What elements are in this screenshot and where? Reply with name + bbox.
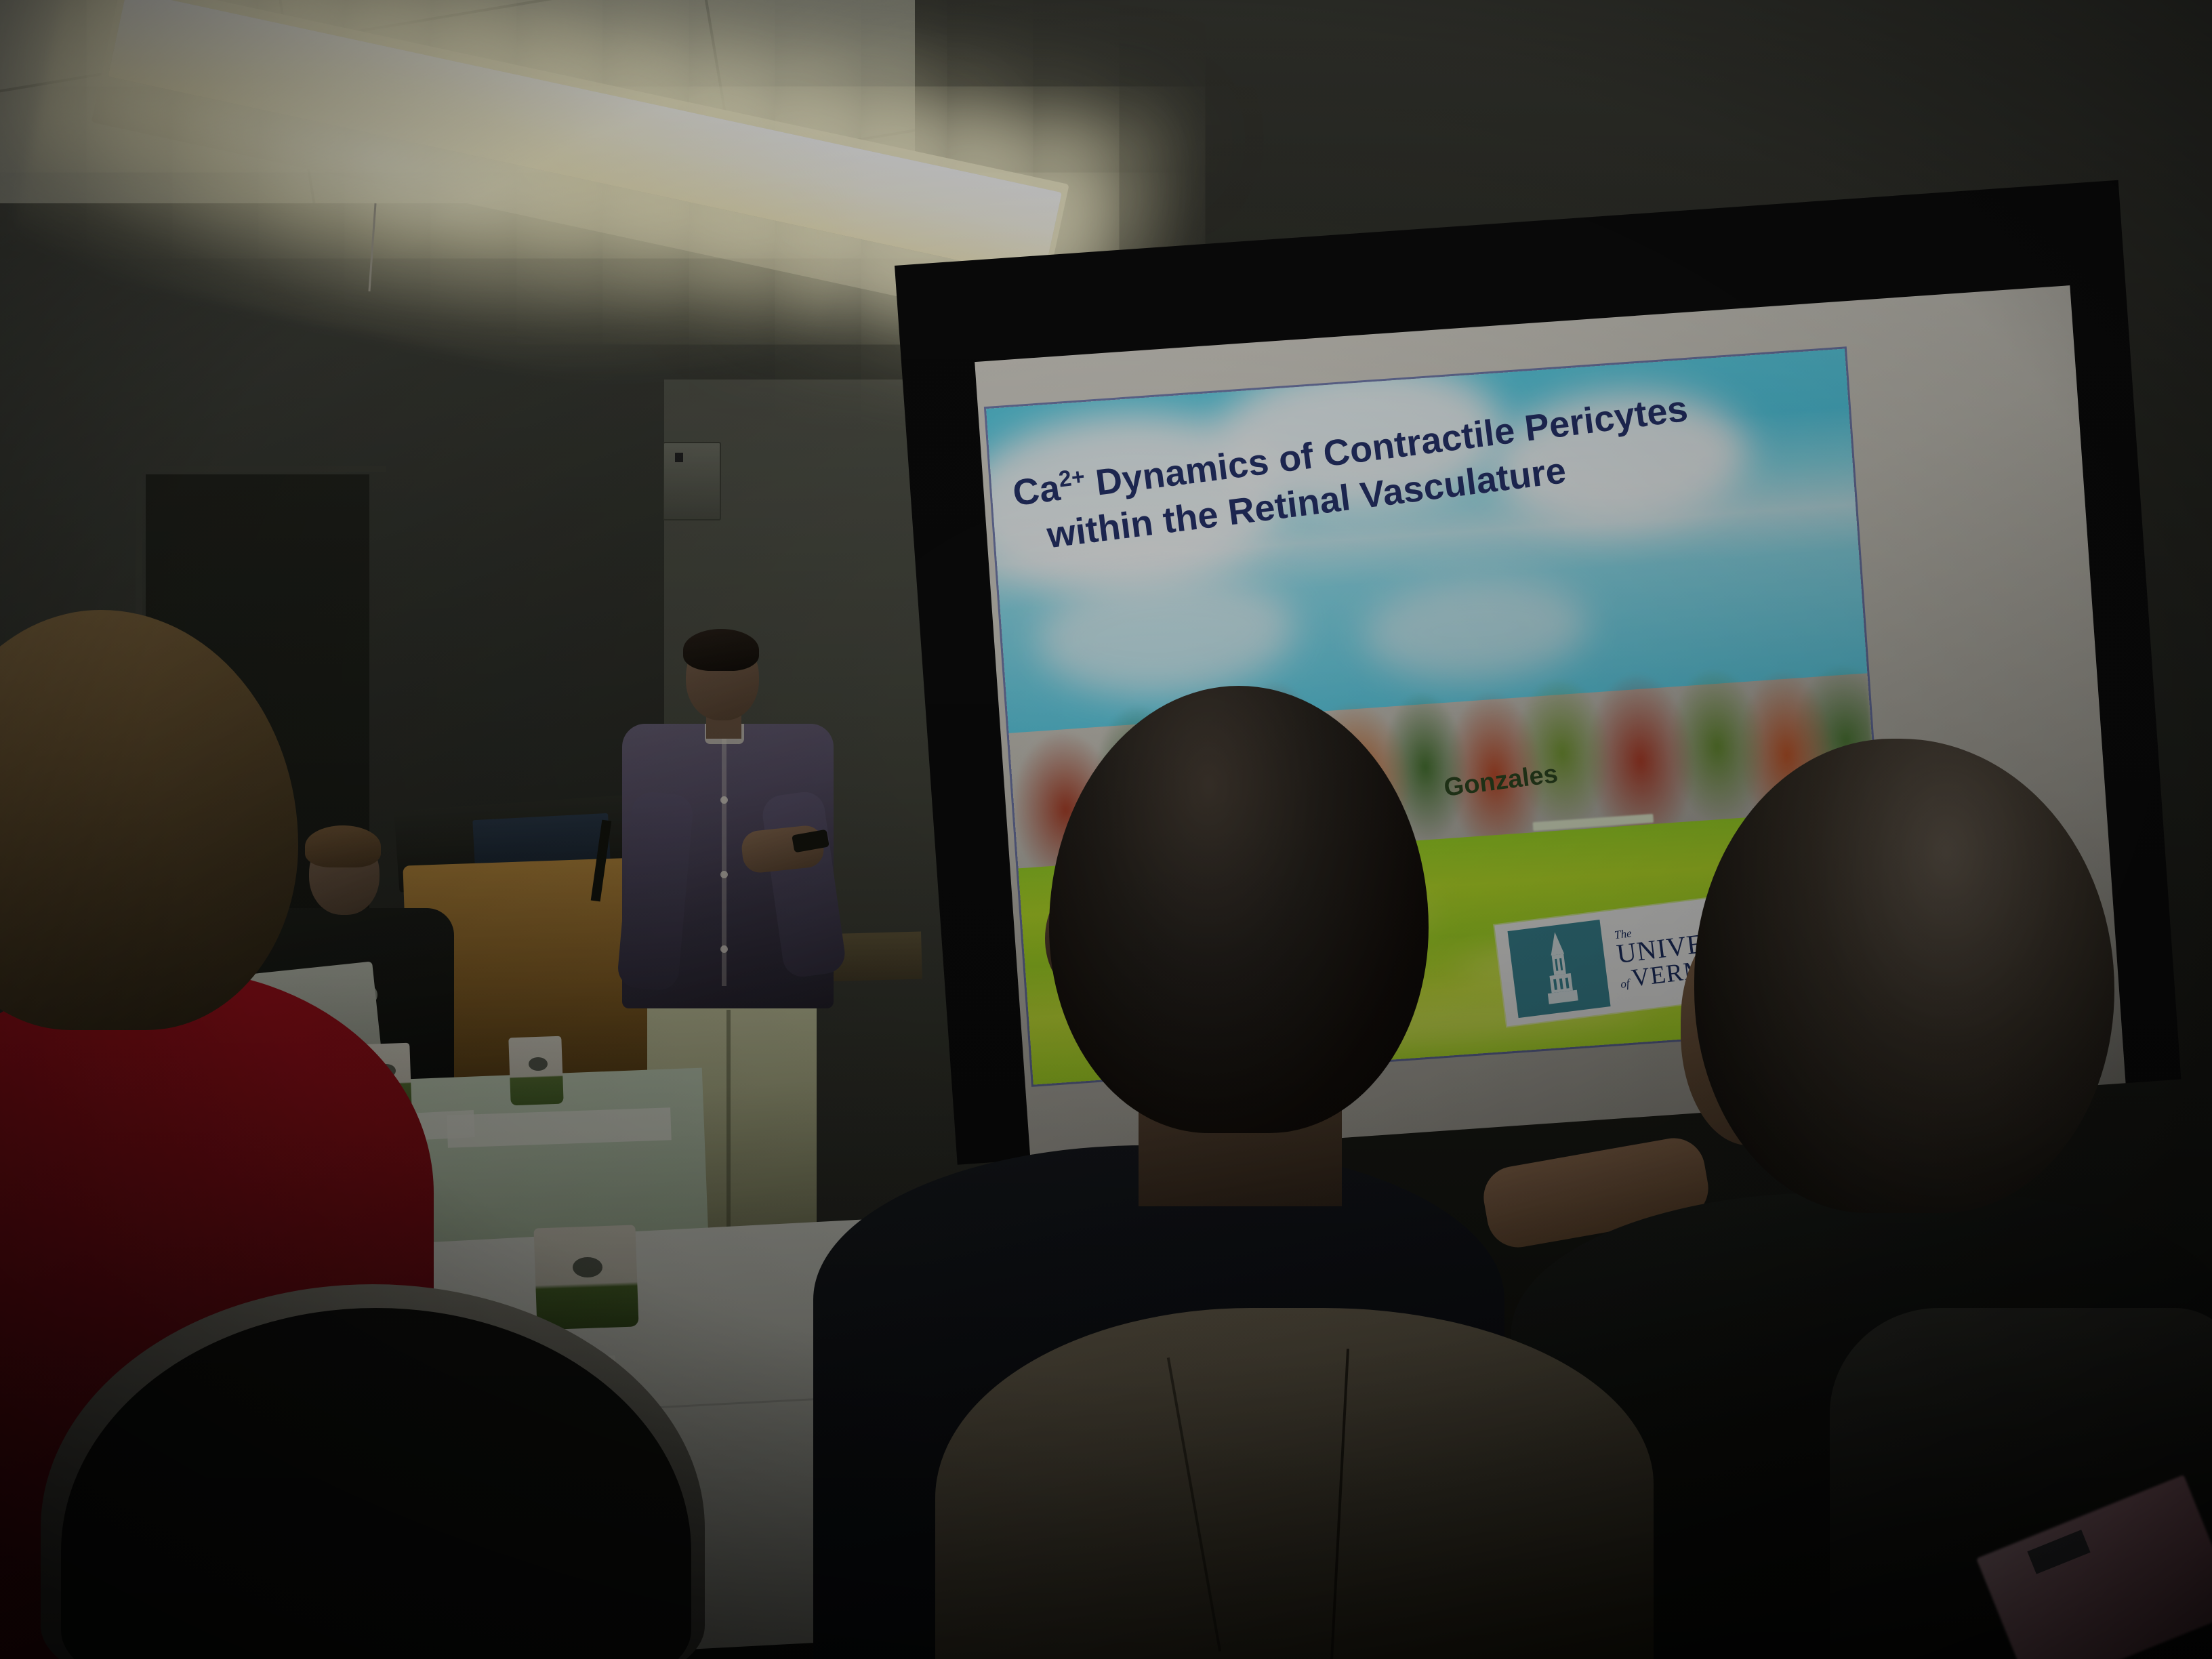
coffee-cup bbox=[508, 1036, 563, 1106]
beige-jacket-on-chair bbox=[935, 1308, 1654, 1659]
shirt-button bbox=[720, 871, 728, 878]
presenter-hair bbox=[683, 629, 759, 671]
wall-speaker-box-icon bbox=[663, 442, 721, 520]
shirt-button bbox=[720, 796, 728, 804]
uvm-of-text: of bbox=[1620, 977, 1631, 991]
foreground-coffee-cup bbox=[533, 1225, 638, 1330]
wall-box-indicator-icon bbox=[675, 453, 683, 462]
coffee-cup-logo-icon bbox=[529, 1057, 548, 1071]
coffee-cup-logo-icon bbox=[573, 1257, 602, 1277]
seated-attendee-hair bbox=[305, 825, 381, 867]
presentation-room-photo: Ca2+ Dynamics of Contractile Pericytes w… bbox=[0, 0, 2212, 1659]
uvm-tower-icon bbox=[1507, 919, 1610, 1017]
shirt-button bbox=[720, 945, 728, 953]
